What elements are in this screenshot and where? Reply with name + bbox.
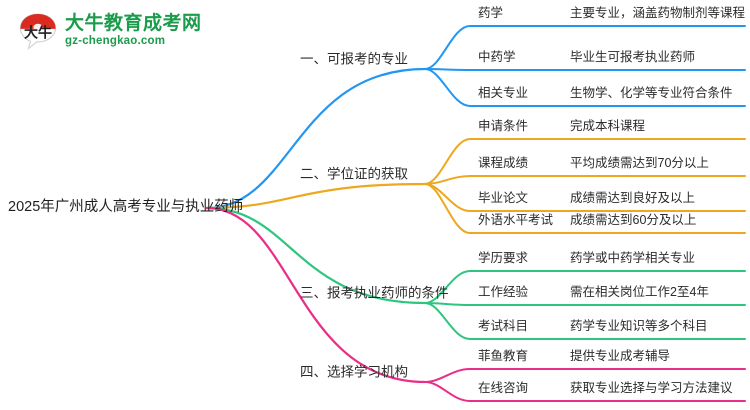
sub-desc-3-3[interactable]: 药学专业知识等多个科目: [570, 320, 708, 333]
sub-desc-4-1[interactable]: 提供专业成考辅导: [570, 350, 670, 363]
sub-label-2-4[interactable]: 外语水平考试: [478, 214, 553, 227]
site-logo: 大牛 大牛教育成考网 gz-chengkao.com: [18, 8, 248, 54]
sub-label-1-1[interactable]: 药学: [478, 7, 503, 20]
branch-label-3[interactable]: 三、报考执业药师的条件: [300, 286, 449, 300]
sub-label-2-3[interactable]: 毕业论文: [478, 192, 528, 205]
sub-desc-4-2[interactable]: 获取专业选择与学习方法建议: [570, 382, 733, 395]
sub-label-3-3[interactable]: 考试科目: [478, 320, 528, 333]
sub-label-3-2[interactable]: 工作经验: [478, 286, 528, 299]
sub-desc-1-2[interactable]: 毕业生可报考执业药师: [570, 51, 695, 64]
sub-label-1-3[interactable]: 相关专业: [478, 87, 528, 100]
sub-desc-1-1[interactable]: 主要专业，涵盖药物制剂等课程: [570, 7, 745, 20]
logo-title: 大牛教育成考网: [65, 14, 202, 33]
branch-label-1[interactable]: 一、可报考的专业: [300, 52, 408, 66]
sub-desc-3-1[interactable]: 药学或中药学相关专业: [570, 252, 695, 265]
logo-subtitle: gz-chengkao.com: [65, 36, 202, 48]
sub-label-2-2[interactable]: 课程成绩: [478, 157, 528, 170]
sub-label-2-1[interactable]: 申请条件: [478, 120, 528, 133]
sub-desc-2-3[interactable]: 成绩需达到良好及以上: [570, 192, 695, 205]
sub-desc-2-1[interactable]: 完成本科课程: [570, 120, 645, 133]
sub-label-4-2[interactable]: 在线咨询: [478, 382, 528, 395]
sub-desc-3-2[interactable]: 需在相关岗位工作2至4年: [570, 286, 709, 299]
sub-desc-2-4[interactable]: 成绩需达到60分及以上: [570, 214, 696, 227]
branch-label-4[interactable]: 四、选择学习机构: [300, 365, 408, 379]
daniu-speech-bubble-logo-icon: 大牛: [18, 11, 58, 51]
sub-label-4-1[interactable]: 菲鱼教育: [478, 350, 528, 363]
sub-desc-1-3[interactable]: 生物学、化学等专业符合条件: [570, 87, 733, 100]
sub-label-3-1[interactable]: 学历要求: [478, 252, 528, 265]
sub-label-1-2[interactable]: 中药学: [478, 51, 516, 64]
branch-label-2[interactable]: 二、学位证的获取: [300, 167, 408, 181]
logo-wordmark: 大牛教育成考网 gz-chengkao.com: [65, 14, 202, 48]
svg-text:大牛: 大牛: [24, 25, 52, 41]
sub-desc-2-2[interactable]: 平均成绩需达到70分以上: [570, 157, 709, 170]
root-node[interactable]: 2025年广州成人高考专业与执业药师: [8, 200, 243, 215]
